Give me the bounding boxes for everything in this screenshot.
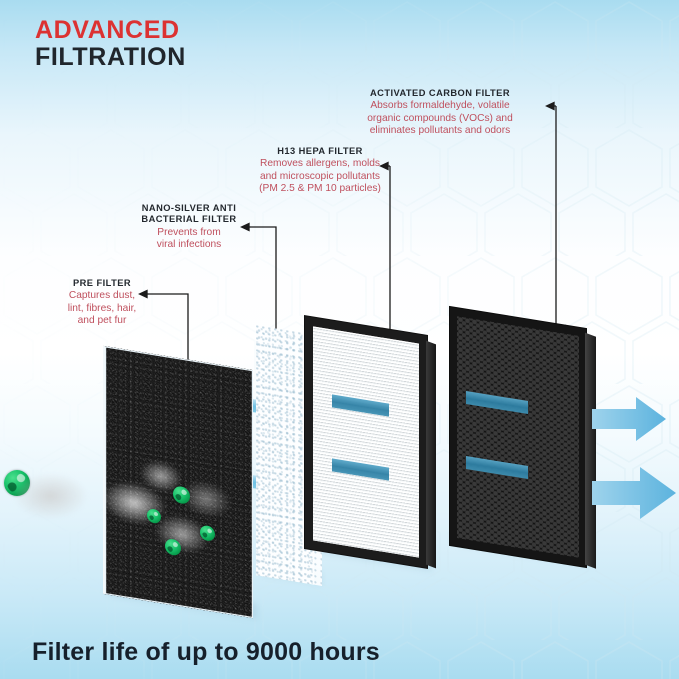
hepa-pleated-media — [313, 326, 419, 557]
callout-pre-filter: PRE FILTER Captures dust, lint, fibres, … — [48, 278, 156, 328]
pre-filter-panel — [103, 346, 253, 618]
airflow-arrow — [592, 467, 676, 519]
airflow-arrow — [592, 397, 666, 441]
title-line-advanced: ADVANCED — [35, 18, 186, 43]
callout-nano-silver-anti-bacterial-filter: NANO-SILVER ANTI BACTERIAL FILTER Preven… — [124, 203, 254, 252]
infographic-canvas: ADVANCED FILTRATION — [0, 0, 679, 679]
callout-desc-line: lint, fibres, hair, — [48, 303, 156, 316]
callout-desc-line: Prevents from — [124, 227, 254, 240]
callout-desc-line: Removes allergens, molds — [227, 158, 413, 171]
callout-description: Prevents from viral infections — [124, 227, 254, 252]
callout-heading-line: NANO-SILVER ANTI — [124, 203, 254, 214]
callout-desc-line: Captures dust, — [48, 290, 156, 303]
carbon-honeycomb-media — [457, 316, 579, 558]
callout-heading: PRE FILTER — [48, 278, 156, 289]
callout-h13-hepa-filter: H13 HEPA FILTER Removes allergens, molds… — [227, 146, 413, 196]
inlet-smoke-cloud — [0, 452, 110, 540]
airflow-exit-arrows — [592, 395, 679, 525]
callout-desc-line: and microscopic pollutants — [227, 171, 413, 184]
callout-description: Removes allergens, molds and microscopic… — [227, 158, 413, 196]
callout-desc-line: eliminates pollutants and odors — [340, 125, 540, 138]
callout-desc-line: (PM 2.5 & PM 10 particles) — [227, 183, 413, 196]
callout-description: Captures dust, lint, fibres, hair, and p… — [48, 290, 156, 328]
hepa-frame-edge — [426, 341, 436, 569]
callout-desc-line: viral infections — [124, 239, 254, 252]
leader-activated-carbon — [554, 106, 556, 329]
page-title: ADVANCED FILTRATION — [35, 18, 186, 70]
callout-desc-line: and pet fur — [48, 315, 156, 328]
carbon-panel — [450, 307, 586, 567]
title-line-filtration: FILTRATION — [35, 45, 186, 70]
callout-heading: ACTIVATED CARBON FILTER — [340, 88, 540, 99]
callout-desc-line: organic compounds (VOCs) and — [340, 113, 540, 126]
callout-desc-line: Absorbs formaldehyde, volatile — [340, 100, 540, 113]
smoke-cloud — [89, 439, 239, 593]
callout-description: Absorbs formaldehyde, volatile organic c… — [340, 100, 540, 138]
hepa-panel — [305, 316, 427, 568]
footer-claim: Filter life of up to 9000 hours — [32, 638, 380, 667]
callout-heading: H13 HEPA FILTER — [227, 146, 413, 157]
callout-activated-carbon-filter: ACTIVATED CARBON FILTER Absorbs formalde… — [340, 88, 540, 138]
callout-heading: NANO-SILVER ANTI BACTERIAL FILTER — [124, 203, 254, 226]
callout-heading-line: BACTERIAL FILTER — [124, 214, 254, 225]
